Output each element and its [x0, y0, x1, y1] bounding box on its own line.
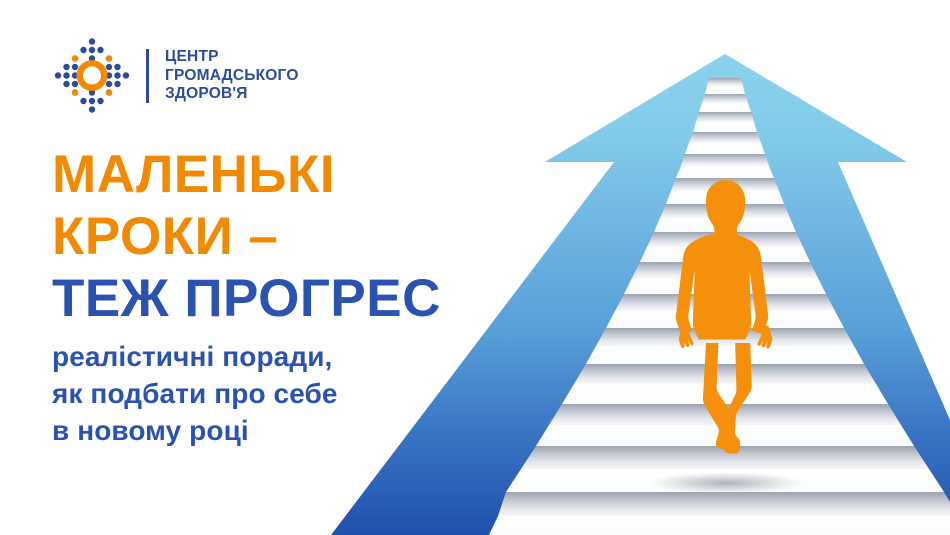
figure-shadow	[648, 472, 804, 494]
logo-line-2: ГРОМАДСЬКОГО	[165, 67, 299, 86]
cphs-dot-diamond-logo-mark	[52, 36, 132, 116]
logo-divider	[146, 49, 149, 103]
logo-line-3: ЗДОРОВ'Я	[165, 85, 299, 104]
headline-line-3: ТЕЖ ПРОГРЕС	[52, 268, 441, 330]
headline-line-2: КРОКИ –	[52, 206, 441, 268]
subtitle-line-3: в новому році	[52, 412, 338, 449]
subtitle-line-2: як подбати про себе	[52, 375, 338, 412]
promo-banner: ЦЕНТР ГРОМАДСЬКОГО ЗДОРОВ'Я МАЛЕНЬКІ КРО…	[0, 0, 950, 535]
headline-line-1: МАЛЕНЬКІ	[52, 144, 441, 206]
subtitle-line-1: реалістичні поради,	[52, 338, 338, 375]
headline: МАЛЕНЬКІ КРОКИ – ТЕЖ ПРОГРЕС	[52, 144, 441, 330]
logo-wordmark: ЦЕНТР ГРОМАДСЬКОГО ЗДОРОВ'Я	[165, 48, 299, 104]
logo[interactable]: ЦЕНТР ГРОМАДСЬКОГО ЗДОРОВ'Я	[52, 36, 299, 116]
logo-line-1: ЦЕНТР	[165, 48, 299, 67]
subtitle: реалістичні поради, як подбати про себе …	[52, 338, 338, 449]
